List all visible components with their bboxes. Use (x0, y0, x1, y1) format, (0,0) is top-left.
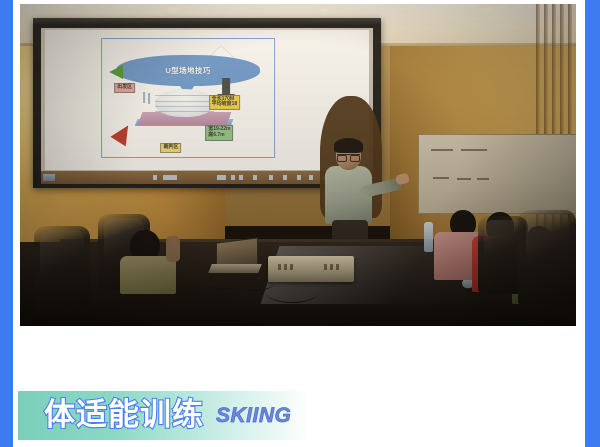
projector-device (268, 256, 354, 282)
audience-body (120, 256, 176, 294)
page-root: U型场地技巧 (0, 0, 600, 447)
slide-headline: U型场地技巧 (116, 55, 260, 87)
whiteboard (418, 134, 576, 214)
ceiling-light-icon (475, 5, 501, 14)
photo-conference-room: U型场地技巧 (20, 4, 576, 326)
left-blue-stripe (0, 0, 13, 447)
banner-title-en: SKIING (216, 405, 291, 426)
halfpipe-graphic (155, 89, 213, 117)
slide-content-frame: U型场地技巧 (101, 38, 275, 158)
slide-label-judge-zone: 裁判区 (161, 143, 182, 153)
cable (266, 282, 318, 303)
audience-arm (166, 236, 180, 262)
glasses-icon (337, 154, 360, 160)
red-arrow-icon (111, 121, 136, 147)
ceiling-light-icon (160, 5, 186, 14)
presenter-hair (334, 138, 363, 153)
slide-label-dimensions: 宽19-22m 高6.7m (205, 125, 233, 141)
start-button[interactable] (43, 174, 55, 181)
screen-valance (33, 18, 381, 26)
ceiling-light-icon (315, 7, 333, 13)
slide-speech-bubble: U型场地技巧 (116, 55, 260, 87)
green-arrow-icon (109, 65, 123, 79)
slide-label-start-zone: 出发区 (114, 83, 135, 93)
banner-title-cn: 体适能训练 (44, 400, 204, 431)
water-bottle (424, 222, 433, 252)
right-blue-stripe (585, 0, 600, 447)
down-arrow-icon (222, 78, 230, 95)
slide-label-length: 全长170M 平均坡度18 (209, 95, 241, 111)
bottom-banner: 体适能训练 SKIING (18, 391, 310, 440)
